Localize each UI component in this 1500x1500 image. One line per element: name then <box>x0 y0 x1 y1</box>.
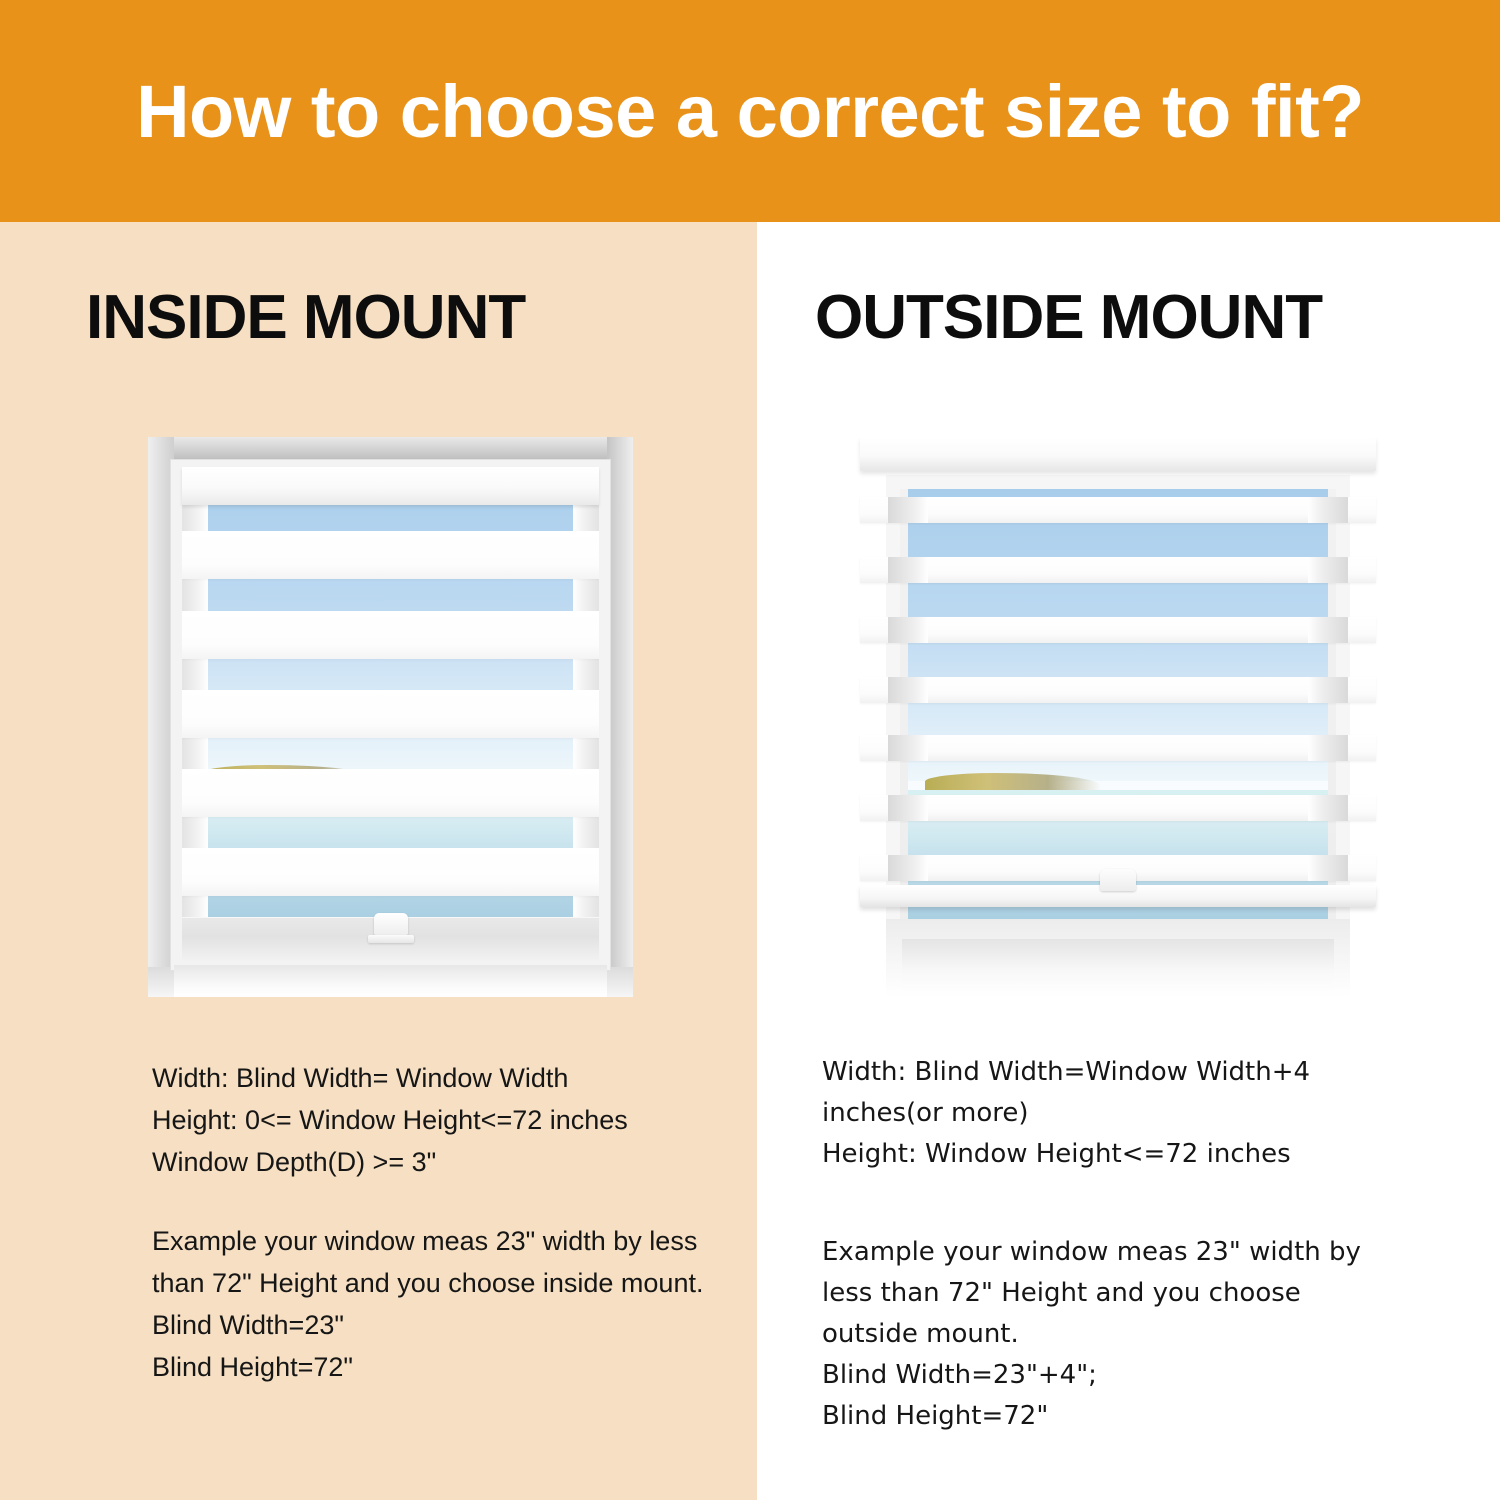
header-banner: How to choose a correct size to fit? <box>0 0 1500 222</box>
window-sill <box>174 965 607 997</box>
band-right-cap <box>1308 855 1348 881</box>
band-right-cap <box>1308 617 1348 643</box>
window-handle <box>374 913 408 935</box>
band-left-cap <box>888 855 928 881</box>
blind-band <box>182 690 599 738</box>
band-left-cap <box>888 557 928 583</box>
window-sash-frame <box>170 459 611 971</box>
blind-headrail <box>860 437 1376 471</box>
band-left-cap <box>888 677 928 703</box>
blind-band <box>182 769 599 817</box>
band-left-cap <box>888 795 928 821</box>
blind-band <box>182 531 599 579</box>
blind-band <box>860 557 1376 583</box>
outside-mount-window-illustration <box>858 437 1378 997</box>
band-right-cap <box>1308 735 1348 761</box>
blind-bottom-rail <box>860 885 1376 907</box>
band-right-cap <box>1308 497 1348 523</box>
band-left-cap <box>888 617 928 643</box>
outside-mount-heading: OUTSIDE MOUNT <box>815 282 1322 353</box>
band-right-cap <box>1308 557 1348 583</box>
outside-mount-specs: Width: Blind Width=Window Width+4 inches… <box>822 1052 1402 1175</box>
inside-mount-specs: Width: Blind Width= Window Width Height:… <box>152 1057 712 1183</box>
window-sill-face <box>886 919 1350 997</box>
blind-band <box>860 795 1376 821</box>
inside-mount-window-illustration <box>148 437 633 997</box>
blind-headrail <box>182 467 599 505</box>
blind-pull-weight <box>1100 869 1136 891</box>
band-right-cap <box>1308 677 1348 703</box>
band-right-cap <box>1308 795 1348 821</box>
band-left-cap <box>888 735 928 761</box>
outside-mount-example: Example your window meas 23" width by le… <box>822 1232 1402 1437</box>
blind-band <box>860 617 1376 643</box>
inside-mount-example: Example your window meas 23" width by le… <box>152 1220 712 1388</box>
outside-mounted-blind <box>858 437 1378 907</box>
zebra-blind-bands <box>182 467 599 919</box>
inside-mount-heading: INSIDE MOUNT <box>86 282 525 353</box>
page-title: How to choose a correct size to fit? <box>0 0 1500 222</box>
infographic-page: How to choose a correct size to fit? INS… <box>0 0 1500 1500</box>
blind-band <box>182 611 599 659</box>
blind-band <box>182 848 599 896</box>
window-sill-inner <box>902 939 1334 997</box>
band-left-cap <box>888 497 928 523</box>
window-glass <box>182 467 599 919</box>
blind-band <box>860 735 1376 761</box>
blind-band <box>860 497 1376 523</box>
blind-band <box>860 677 1376 703</box>
